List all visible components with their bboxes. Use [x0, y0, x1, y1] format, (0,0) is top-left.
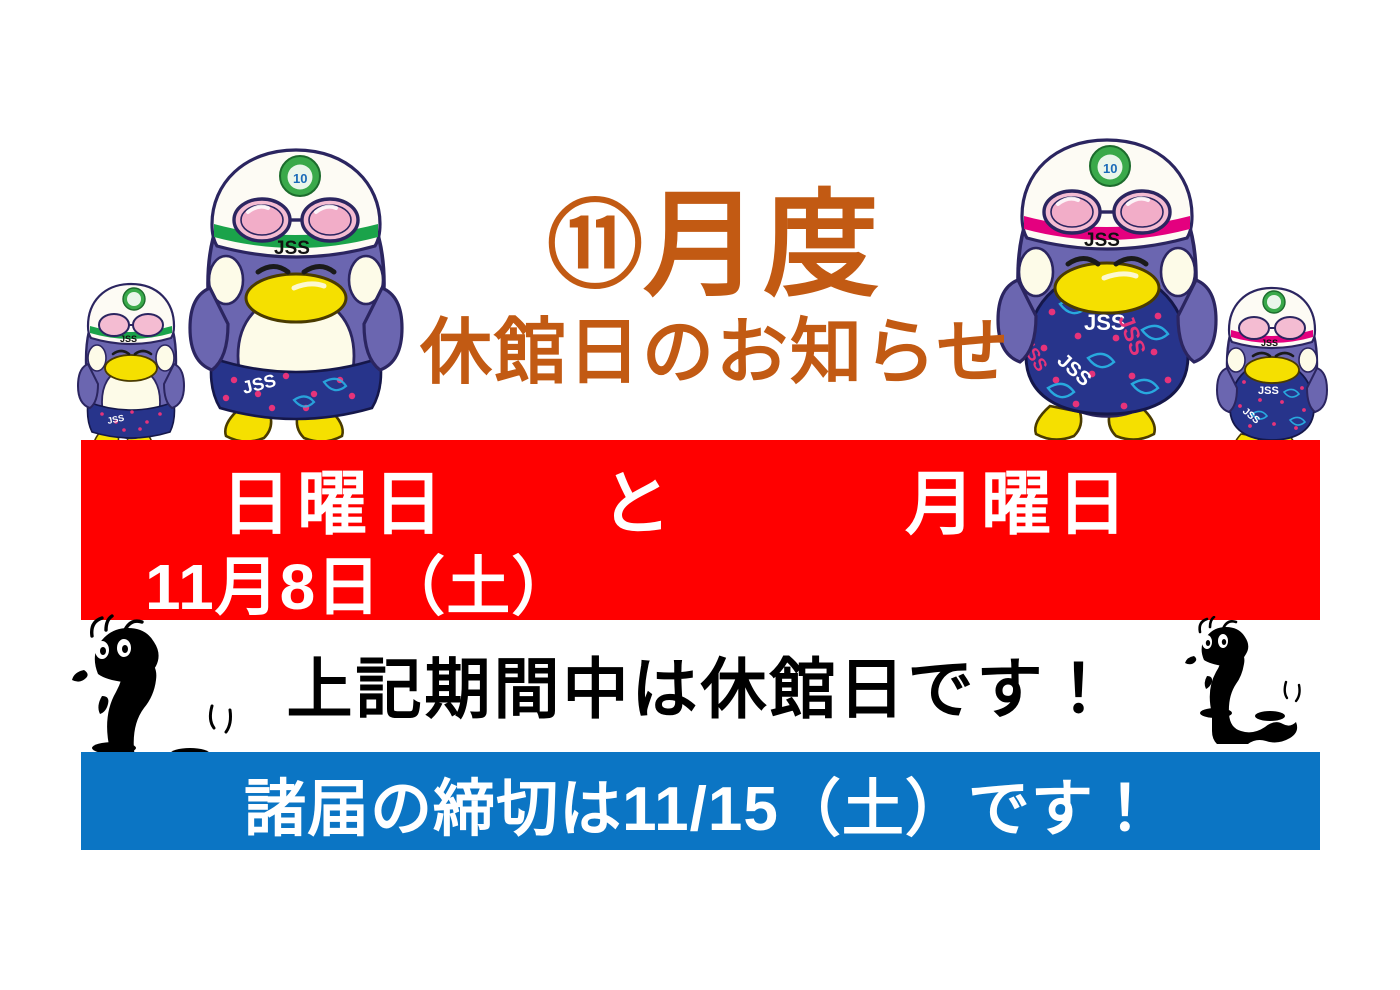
cap-jss-text: JSS	[1261, 338, 1278, 348]
closed-days-text: 日曜日 と 月曜日	[221, 448, 1221, 549]
deadline-banner: 諸届の締切は11/15（土）です！	[81, 752, 1320, 850]
penguin-beak	[105, 355, 157, 381]
page-title: ⑪月度 休館日のお知らせ	[420, 185, 1010, 393]
cheek-right	[156, 345, 174, 371]
title-subtitle: 休館日のお知らせ	[420, 313, 1010, 394]
cheek-right	[1299, 348, 1317, 372]
jss-penguin-right-large: JSS JSS JSS JSS	[992, 122, 1222, 450]
svg-text:10: 10	[1103, 161, 1117, 176]
green-member-badge-icon: 10	[1090, 146, 1130, 186]
closed-notice-text: 上記期間中は休館日です！	[81, 636, 1320, 732]
jss-penguin-right-small: JSS JSS JSS	[1212, 276, 1332, 458]
cheek-left	[88, 345, 106, 371]
cap-jss-text: JSS	[274, 238, 310, 259]
svg-text:10: 10	[293, 171, 307, 186]
penguin-beak	[246, 274, 346, 322]
poster-canvas: JSS JSS	[0, 0, 1400, 990]
jss-penguin-left-small: JSS JSS	[72, 272, 190, 457]
cheek-left	[1227, 348, 1245, 372]
suit-jss-text-1: JSS	[1258, 385, 1279, 397]
cap-jss-text: JSS	[1084, 230, 1120, 251]
deadline-notice-text: 諸届の締切は11/15（土）です！	[81, 758, 1320, 848]
closed-days-banner: 日曜日 と 月曜日 11月8日（土）	[81, 440, 1320, 620]
penguin-beak	[1245, 357, 1299, 383]
title-main-text: 月度	[643, 180, 883, 310]
jss-penguin-left-large: JSS 10	[182, 132, 410, 450]
penguin-beak	[1055, 263, 1159, 313]
month-number-circled: ⑪	[547, 193, 643, 300]
green-member-badge-icon: 10	[280, 156, 320, 196]
title-main-line: ⑪月度	[420, 185, 1010, 307]
cap-jss-text: JSS	[120, 334, 137, 344]
